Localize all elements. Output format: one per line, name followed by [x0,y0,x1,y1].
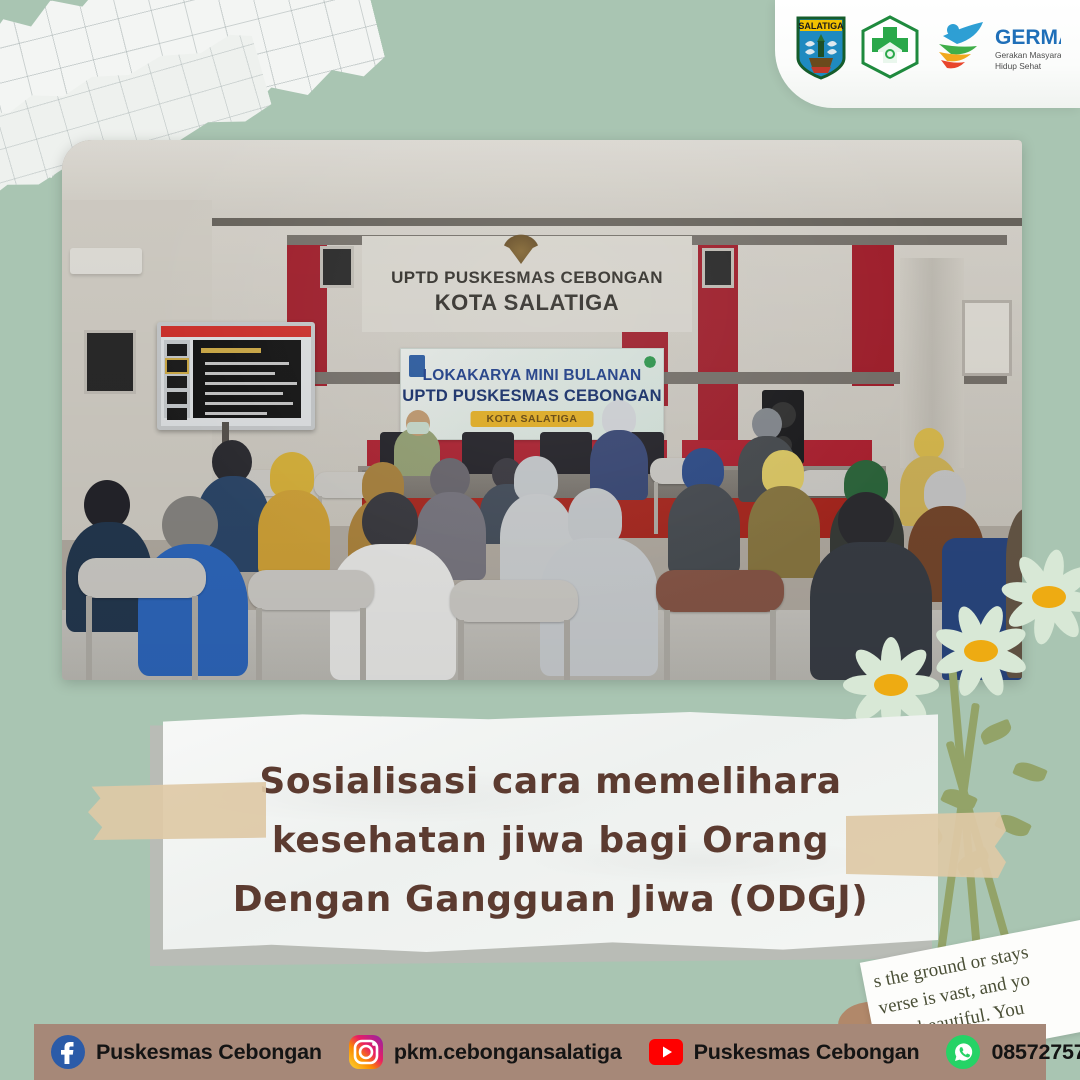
screen-toolbar [161,326,311,337]
wall-poster-frame [962,300,1012,376]
social-account-whatsapp[interactable]: 085727572760 [945,1034,1080,1070]
svg-text:GERMAS: GERMAS [995,26,1061,49]
presentation-slide [193,340,301,418]
leaf [978,719,1014,746]
poster-title: Sosialisasi cara memelihara kesehatan ji… [163,752,938,929]
social-account-instagram[interactable]: pkm.cebongansalatiga [348,1034,622,1070]
slide-thumbnail-panel [164,340,190,418]
social-account-facebook[interactable]: Puskesmas Cebongan [50,1034,322,1070]
title-line-1: Sosialisasi cara memelihara [163,752,938,811]
facebook-handle: Puskesmas Cebongan [96,1040,322,1065]
air-conditioner [70,248,142,274]
header-logo-panel: SALATIGA GERMAS Gerakan Masyarakat [775,0,1080,108]
red-wall-panel [852,236,894,386]
presenter-mask [407,422,429,434]
wall-portrait-frame [702,248,734,288]
svg-text:SALATIGA: SALATIGA [798,21,844,31]
attendee-body [748,486,820,578]
salatiga-city-emblem-logo: SALATIGA [795,14,847,80]
poster-canvas: SALATIGA GERMAS Gerakan Masyarakat [0,0,1080,1080]
social-account-youtube[interactable]: Puskesmas Cebongan [648,1034,920,1070]
masking-tape-left [88,782,266,840]
whatsapp-icon[interactable] [945,1034,981,1070]
attendee-head-foreground [362,492,418,552]
social-media-footer: Puskesmas Cebongan pkm.cebongansalatiga … [34,1024,1046,1080]
attendee-body [258,490,330,576]
germas-logo: GERMAS Gerakan Masyarakat Hidup Sehat [933,18,1061,76]
youtube-handle: Puskesmas Cebongan [694,1040,920,1065]
masking-tape-right [846,812,1006,878]
attendee-body-foreground [330,544,456,680]
wall-sign-line1: UPTD PUSKESMAS CEBONGAN [372,268,682,288]
title-line-3: Dengan Gangguan Jiwa (ODGJ) [163,870,938,929]
instagram-handle: pkm.cebongansalatiga [394,1040,622,1065]
slide-title-bar [201,348,261,353]
leaf [1012,759,1048,786]
projector-screen [157,322,315,430]
attendee-body [668,484,740,574]
banner-badge: KOTA SALATIGA [471,411,594,427]
facebook-icon[interactable] [50,1034,86,1070]
daisy-flower [994,542,1080,652]
wall-sign-line2: KOTA SALATIGA [372,290,682,316]
wall-picture-frame [84,330,136,394]
youtube-icon[interactable] [648,1034,684,1070]
svg-text:Hidup Sehat: Hidup Sehat [995,61,1042,71]
wall-portrait-frame [320,246,354,288]
title-line-2: kesehatan jiwa bagi Orang [163,811,938,870]
banner-line1: LOKAKARYA MINI BULANAN [401,367,663,385]
whatsapp-number: 085727572760 [991,1040,1080,1065]
title-card: Sosialisasi cara memelihara kesehatan ji… [163,712,938,952]
svg-text:Gerakan Masyarakat: Gerakan Masyarakat [995,50,1061,60]
puskesmas-green-cross-logo [859,14,921,80]
instagram-icon[interactable] [348,1034,384,1070]
